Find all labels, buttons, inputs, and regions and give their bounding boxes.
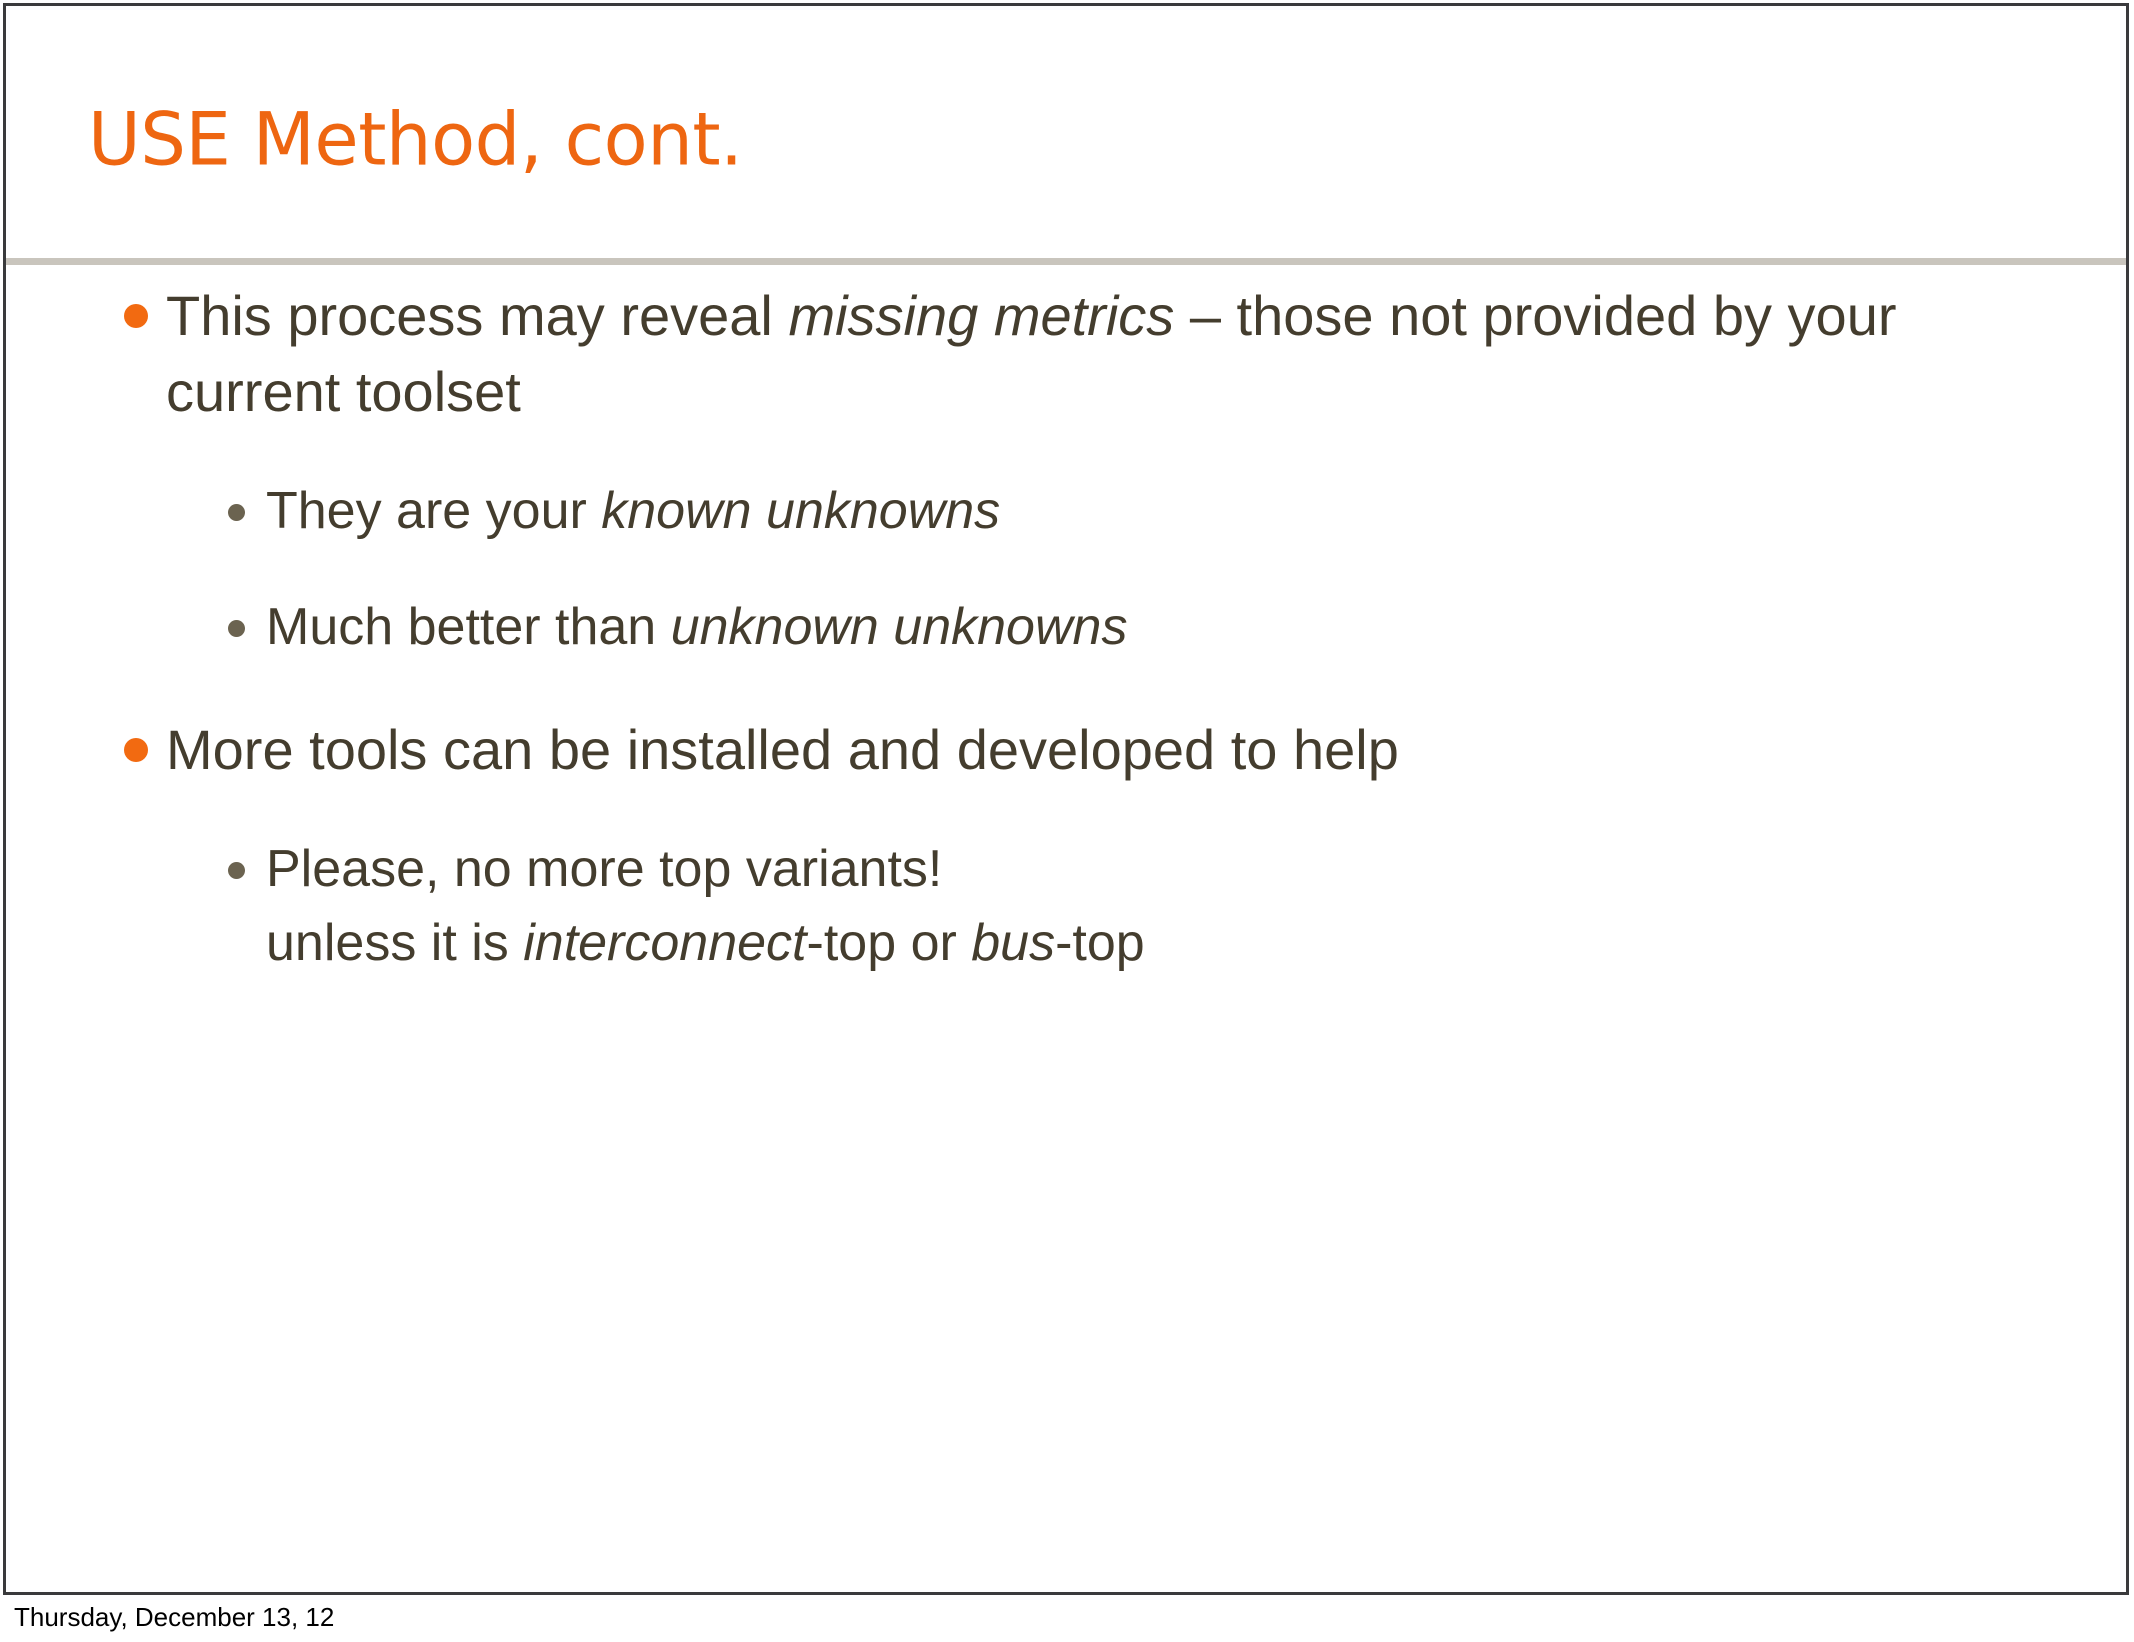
bullet-marker-icon: [124, 304, 148, 328]
title-divider: [6, 258, 2126, 265]
bullet-item-2: They are your known unknowns: [6, 474, 2126, 548]
bullet-text: This process may reveal missing metrics …: [166, 284, 1897, 423]
bullet-marker-icon: [228, 504, 245, 521]
spacer: [6, 788, 2126, 832]
slide-title-area: USE Method, cont.: [6, 6, 2126, 258]
bullet-item-3: Much better than unknown unknowns: [6, 590, 2126, 664]
bullet-item-1: This process may reveal missing metrics …: [6, 278, 2126, 430]
page-title: USE Method, cont.: [88, 98, 742, 180]
bullet-text: They are your known unknowns: [266, 482, 1000, 540]
spacer: [6, 664, 2126, 712]
bullet-marker-icon: [124, 738, 148, 762]
bullet-marker-icon: [228, 862, 245, 879]
bullet-item-5: Please, no more top variants!unless it i…: [6, 832, 2126, 980]
bullet-text: Please, no more top variants!unless it i…: [266, 840, 1145, 972]
slide-body: This process may reveal missing metrics …: [6, 278, 2126, 980]
bullet-marker-icon: [228, 620, 245, 637]
bullet-text: More tools can be installed and develope…: [166, 718, 1399, 781]
bullet-text: Much better than unknown unknowns: [266, 598, 1127, 656]
spacer: [6, 548, 2126, 590]
spacer: [6, 430, 2126, 474]
slide-canvas: USE Method, cont. This process may revea…: [3, 3, 2129, 1595]
bullet-item-4: More tools can be installed and develope…: [6, 712, 2126, 788]
footer-date: Thursday, December 13, 12: [14, 1600, 334, 1634]
